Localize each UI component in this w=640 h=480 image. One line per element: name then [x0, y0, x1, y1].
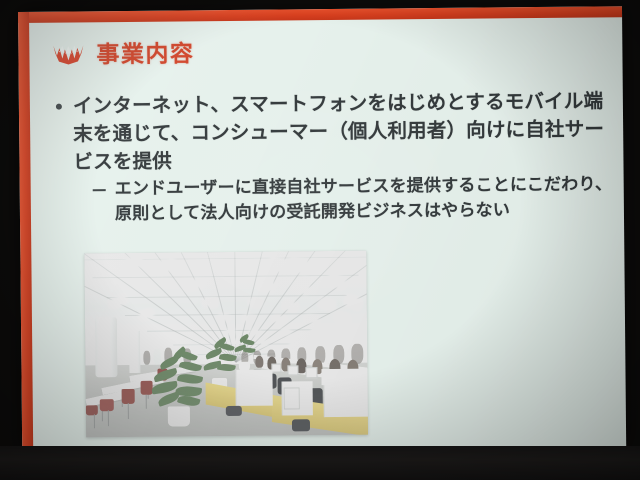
office-photo-scene [84, 251, 368, 438]
presentation-slide: 事業内容 インターネット、スマートフォンをはじめとするモバイル端末を通じて、コン… [18, 6, 626, 452]
bullet-item-level1: インターネット、スマートフォンをはじめとするモバイル端末を通じて、コンシューマー… [56, 87, 617, 177]
open-plan-office-photo [84, 251, 368, 438]
slide-title-row: 事業内容 [51, 34, 194, 69]
projection-room: 事業内容 インターネット、スマートフォンをはじめとするモバイル端末を通じて、コン… [0, 0, 640, 480]
bullet-dash-icon [93, 189, 106, 191]
horned-crown-logo-icon [51, 39, 85, 65]
office-column [95, 317, 118, 377]
screen-frame-bottom [0, 446, 640, 480]
bullet-dot-icon [56, 104, 62, 110]
bullet-level2-text: エンドユーザーに直接自社サービスを提供することにこだわり、原則として法人向けの受… [115, 172, 621, 226]
page-title: 事業内容 [96, 34, 194, 69]
bullet-level1-text: インターネット、スマートフォンをはじめとするモバイル端末を通じて、コンシューマー… [73, 87, 617, 176]
slide-content: 事業内容 インターネット、スマートフォンをはじめとするモバイル端末を通じて、コン… [29, 17, 626, 452]
office-column-secondary [129, 331, 140, 373]
bullet-item-level2: エンドユーザーに直接自社サービスを提供することにこだわり、原則として法人向けの受… [93, 172, 621, 227]
projected-slide-area: 事業内容 インターネット、スマートフォンをはじめとするモバイル端末を通じて、コン… [18, 6, 626, 452]
